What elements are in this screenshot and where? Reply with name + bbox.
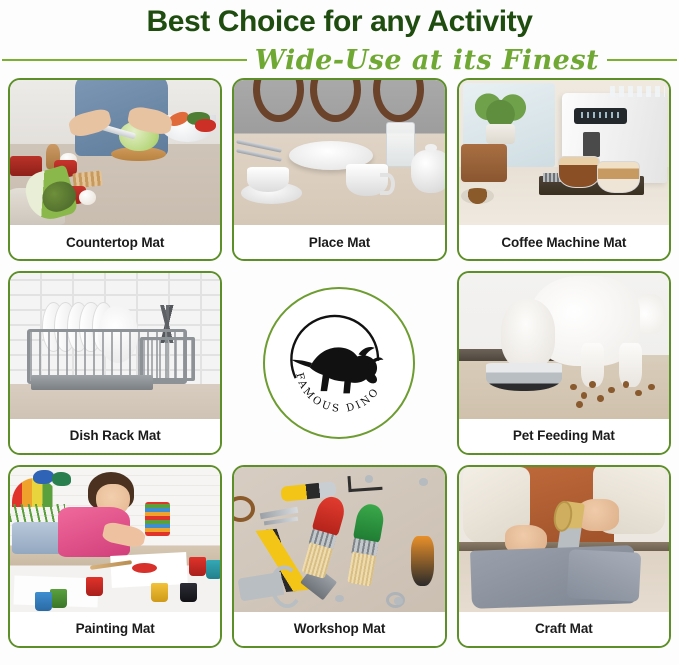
craft-mat-photo [459,467,669,612]
feature-card-painting-mat[interactable]: Painting Mat [8,465,222,648]
dish-rack-mat-photo [10,273,220,418]
card-label: Dish Rack Mat [10,419,220,453]
feature-card-countertop-mat[interactable]: Countertop Mat [8,78,222,261]
card-label: Pet Feeding Mat [459,419,669,453]
page-title: Best Choice for any Activity [0,4,679,40]
painting-mat-photo [10,467,220,612]
feature-grid: Countertop Mat Place Mat [0,78,679,658]
feature-card-place-mat[interactable]: Place Mat [232,78,446,261]
feature-card-dish-rack-mat[interactable]: Dish Rack Mat [8,271,222,454]
page-subtitle: Wide-Use at its Finest [255,45,599,76]
banner-header: Best Choice for any Activity Wide-Use at… [0,0,679,78]
feature-card-pet-feeding-mat[interactable]: Pet Feeding Mat [457,271,671,454]
coffee-machine-mat-photo [459,80,669,225]
countertop-mat-photo [10,80,220,225]
card-label: Countertop Mat [10,225,220,259]
brand-logo-circle: FAMOUS DINO [263,287,415,439]
feature-card-workshop-mat[interactable]: Workshop Mat [232,465,446,648]
place-mat-photo [234,80,444,225]
divider-rule-left [2,59,247,61]
product-feature-banner: Best Choice for any Activity Wide-Use at… [0,0,679,665]
subtitle-row: Wide-Use at its Finest [0,42,679,78]
divider-rule-right [607,59,677,61]
pet-feeding-mat-photo [459,273,669,418]
workshop-mat-photo [234,467,444,612]
card-label: Workshop Mat [234,612,444,646]
feature-card-craft-mat[interactable]: Craft Mat [457,465,671,648]
card-label: Painting Mat [10,612,220,646]
brand-logo-cell: FAMOUS DINO [232,271,446,454]
famous-dino-logo-icon: FAMOUS DINO [274,298,404,428]
card-label: Place Mat [234,225,444,259]
card-label: Craft Mat [459,612,669,646]
card-label: Coffee Machine Mat [459,225,669,259]
feature-card-coffee-machine-mat[interactable]: Coffee Machine Mat [457,78,671,261]
